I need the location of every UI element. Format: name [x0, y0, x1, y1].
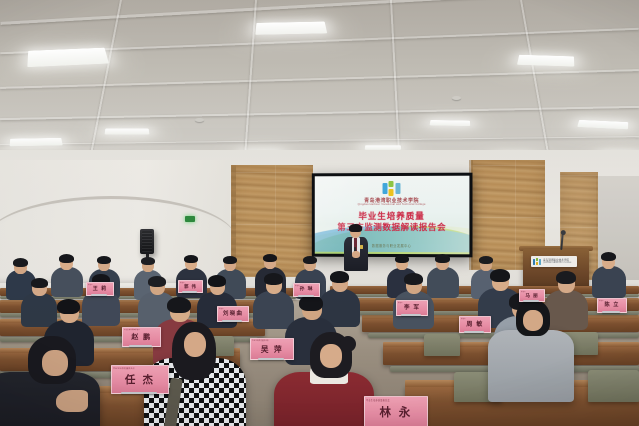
placard-name: 刘晓曲 — [223, 312, 243, 318]
projected-slide: 青岛港湾职业技术学院 Qingdao Harbour Vocational an… — [315, 176, 470, 255]
ceiling-beam — [0, 69, 639, 89]
placard-name: 马 丽 — [525, 294, 538, 299]
ceiling-light-panel — [255, 22, 327, 35]
placard-header: 毕业生培养质量报告会 — [124, 329, 140, 331]
placard-name: 周 敏 — [466, 322, 483, 328]
projection-screen: 青岛港湾职业技术学院 Qingdao Harbour Vocational an… — [312, 173, 473, 258]
placard-header: 毕业生培养质量报告会 — [113, 367, 135, 370]
slide-title-line2: 第三方监测数据解读报告会 — [315, 221, 470, 233]
ceiling-light-panel — [105, 129, 150, 135]
ceiling-light-panel — [10, 138, 63, 146]
placard-header: 毕业生培养质量报告会 — [252, 340, 269, 342]
name-placard: 毕业生培养质量报告会林 永 — [364, 396, 428, 426]
chair[interactable] — [588, 370, 639, 402]
hand — [56, 390, 88, 412]
placard-header: 报告会 — [599, 300, 604, 302]
ceiling-beam — [0, 0, 638, 24]
placard-header: 报告会 — [521, 291, 526, 293]
placard-stand — [298, 295, 314, 297]
placard-name: 吴 萍 — [261, 346, 283, 354]
presenter-hands — [352, 251, 360, 258]
exit-sign — [185, 216, 195, 222]
podium-plate-line2: QINGDAO HARBOUR COLLEGE — [543, 262, 571, 264]
smoke-detector — [452, 96, 461, 100]
placard-stand — [121, 392, 157, 394]
placard-name: 任 杰 — [125, 375, 155, 386]
ceiling-light-panel — [27, 48, 109, 67]
placard-stand — [91, 294, 108, 296]
placard-stand — [401, 314, 420, 316]
placard-header: 报告会 — [180, 282, 185, 284]
placard-stand — [182, 291, 197, 293]
attendee-red-coat — [280, 332, 376, 426]
placard-header: 毕业生培养质量报告会 — [366, 398, 390, 402]
smoke-detector — [195, 118, 204, 122]
placard-name: 郭 伟 — [184, 285, 197, 289]
placard-stand — [258, 358, 285, 360]
wall-speaker — [140, 229, 154, 254]
placard-name: 孙 琳 — [300, 288, 314, 293]
placard-name: 林 永 — [379, 408, 412, 420]
placard-header: 报告会 — [295, 285, 300, 287]
presenter-badge — [360, 245, 363, 249]
name-placard: 毕业生培养质量报告会任 杰 — [111, 365, 169, 394]
placard-header: 报告会 — [219, 308, 224, 310]
podium — [523, 249, 589, 289]
placard-name: 李 军 — [404, 306, 420, 312]
conference-room-photo: 青岛港湾职业技术学院 Qingdao Harbour Vocational an… — [0, 0, 639, 426]
placard-header: 报告会 — [461, 318, 466, 320]
placard-stand — [129, 345, 153, 347]
placard-stand — [523, 300, 538, 302]
institution-logo — [382, 181, 401, 196]
presenter-hair — [349, 224, 362, 232]
placard-name: 王 莉 — [93, 287, 107, 292]
placard-stand — [602, 311, 620, 313]
placard-header: 报告会 — [398, 302, 403, 304]
podium-logo-icon — [533, 258, 541, 266]
placard-name: 陈 立 — [605, 303, 620, 308]
ceiling-light-panel — [517, 55, 574, 67]
name-placard: 毕业生培养质量报告会吴 萍 — [250, 338, 294, 360]
ceiling-light-panel — [577, 120, 628, 129]
slide-footer: 数据服务与职业发展中心 — [315, 243, 470, 248]
chair[interactable] — [424, 334, 460, 356]
placard-header: 报告会 — [88, 284, 93, 286]
placard-stand — [464, 331, 483, 333]
attendee-grey-jacket — [492, 300, 576, 380]
placard-stand — [222, 320, 241, 322]
slide-organization-en: Qingdao Harbour Vocational and Technical… — [315, 203, 470, 206]
placard-name: 赵 鹏 — [131, 334, 151, 341]
ceiling-beam — [0, 136, 639, 145]
attendee-dark-coat — [0, 336, 96, 426]
ceiling-light-panel — [430, 120, 471, 126]
name-placard: 毕业生培养质量报告会赵 鹏 — [122, 327, 161, 347]
head — [184, 332, 206, 357]
podium-nameplate: 青岛港湾职业技术学院 QINGDAO HARBOUR COLLEGE — [531, 256, 577, 267]
